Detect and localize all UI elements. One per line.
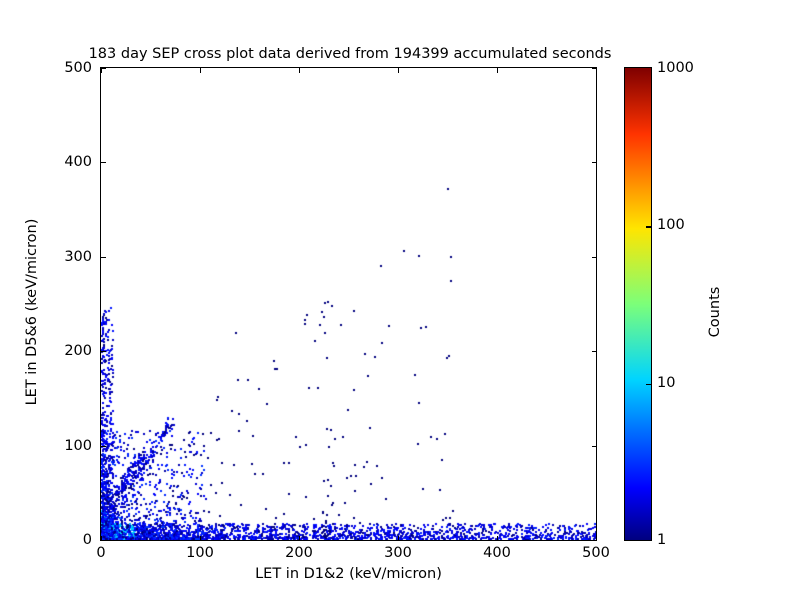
x-tick-400 <box>497 68 498 73</box>
scatter-plot-points <box>101 68 596 540</box>
y-tick-500 <box>592 68 597 69</box>
x-axis-label: LET in D1&2 (keV/micron) <box>100 566 597 582</box>
x-ticklabel-300: 300 <box>384 545 412 561</box>
y-tick-200 <box>101 351 106 352</box>
y-tick-100 <box>101 446 106 447</box>
x-tick-200 <box>299 536 300 541</box>
y-tick-300 <box>592 257 597 258</box>
x-tick-100 <box>200 68 201 73</box>
x-tick-500 <box>596 68 597 73</box>
y-tick-0 <box>101 540 106 541</box>
x-ticklabel-400: 400 <box>483 545 511 561</box>
colorbar-gradient <box>625 68 651 540</box>
y-tick-400 <box>101 162 106 163</box>
y-ticklabel-400: 400 <box>0 154 92 170</box>
x-ticklabel-500: 500 <box>582 545 610 561</box>
y-tick-0 <box>592 540 597 541</box>
colorbar-ticklabel-10: 10 <box>657 375 675 391</box>
colorbar-tick-100 <box>646 226 651 227</box>
x-ticklabel-200: 200 <box>285 545 313 561</box>
y-tick-100 <box>592 446 597 447</box>
colorbar <box>624 67 652 541</box>
y-ticklabel-200: 200 <box>0 343 92 359</box>
y-tick-200 <box>592 351 597 352</box>
x-tick-300 <box>398 536 399 541</box>
y-tick-400 <box>592 162 597 163</box>
x-ticklabel-0: 0 <box>96 545 105 561</box>
colorbar-label: Counts <box>707 237 723 387</box>
x-tick-500 <box>596 536 597 541</box>
x-tick-400 <box>497 536 498 541</box>
x-ticklabel-100: 100 <box>186 545 214 561</box>
x-tick-100 <box>200 536 201 541</box>
x-tick-300 <box>398 68 399 73</box>
plot-axes-area <box>100 67 597 541</box>
colorbar-ticklabel-1: 1 <box>657 532 666 548</box>
y-tick-300 <box>101 257 106 258</box>
colorbar-ticklabel-1000: 1000 <box>657 60 694 76</box>
figure-canvas: 183 day SEP cross plot data derived from… <box>0 0 800 600</box>
y-axis-label: LET in D5&6 (keV/micron) <box>24 162 40 462</box>
plot-title-line-1: 183 day SEP cross plot data derived from… <box>0 45 700 64</box>
y-ticklabel-300: 300 <box>0 249 92 265</box>
y-ticklabel-0: 0 <box>0 532 92 548</box>
y-tick-500 <box>101 68 106 69</box>
x-tick-200 <box>299 68 300 73</box>
y-ticklabel-100: 100 <box>0 438 92 454</box>
colorbar-tick-10 <box>646 384 651 385</box>
colorbar-ticklabel-100: 100 <box>657 217 685 233</box>
y-ticklabel-500: 500 <box>0 60 92 76</box>
